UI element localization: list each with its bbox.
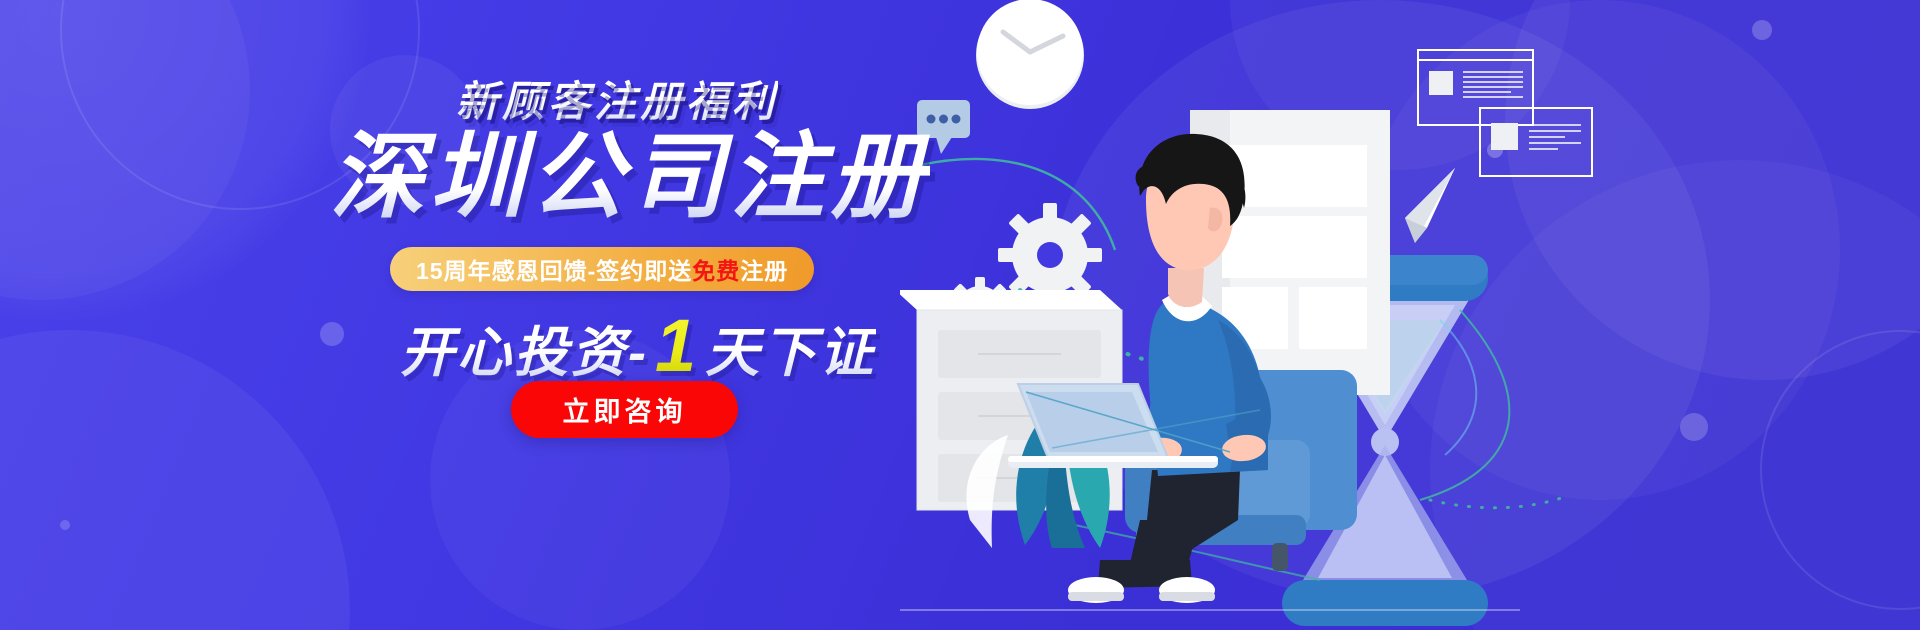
promo-banner: 新顾客注册福利 深圳公司注册 15周年感恩回馈-签约即送 免费 注册 开心投资-… (0, 0, 1920, 630)
subline-number: 1 (649, 309, 705, 383)
hero-illustration (900, 0, 1920, 630)
subline-before: 开心投资- (400, 308, 649, 387)
banner-copy: 新顾客注册福利 深圳公司注册 15周年感恩回馈-签约即送 免费 注册 开心投资-… (0, 0, 960, 630)
promo-badge-highlight: 免费 (692, 252, 740, 286)
promo-badge-suffix: 注册 (740, 252, 788, 286)
page-title: 深圳公司注册 (330, 128, 930, 227)
banner-subline: 开心投资- 1 天下证 (400, 308, 876, 387)
consult-now-button[interactable]: 立即咨询 (511, 381, 738, 438)
subline-after: 天下证 (705, 308, 876, 387)
clock-icon (976, 0, 1084, 109)
banner-eyebrow: 新顾客注册福利 (456, 68, 778, 129)
promo-badge-prefix: 15周年感恩回馈-签约即送 (416, 252, 692, 286)
promo-badge: 15周年感恩回馈-签约即送 免费 注册 (390, 247, 814, 291)
